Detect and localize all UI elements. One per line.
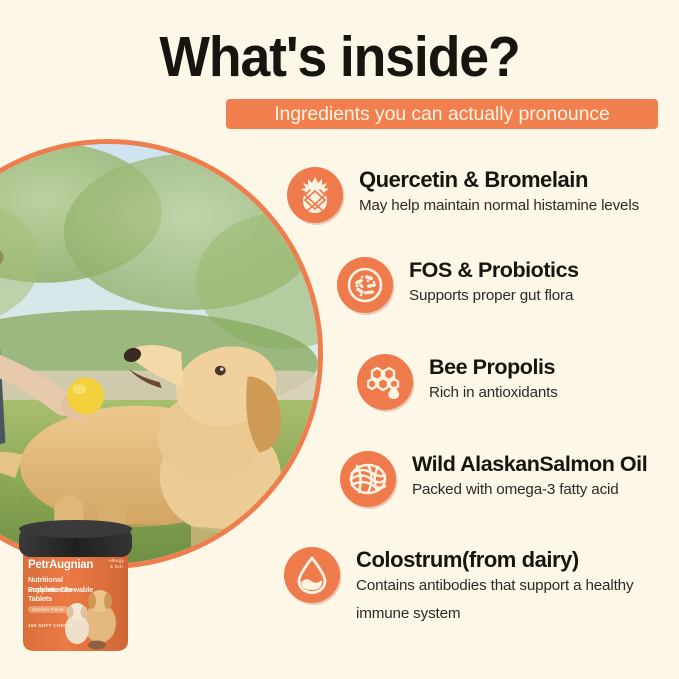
ingredient-row: Bee Propolis Rich in antioxidants bbox=[357, 354, 558, 410]
ingredient-title: Quercetin & Bromelain bbox=[359, 168, 639, 192]
ingredient-title: Wild AlaskanSalmon Oil bbox=[412, 452, 647, 476]
subtitle-banner: Ingredients you can actually pronounce bbox=[226, 99, 658, 129]
ingredient-desc-line-2: immune system bbox=[356, 603, 633, 624]
ingredient-desc-line-1: Contains antibodies that support a healt… bbox=[356, 577, 633, 594]
pineapple-icon bbox=[287, 167, 343, 223]
ingredient-row: FOS & Probiotics Supports proper gut flo… bbox=[337, 257, 579, 313]
fish-scales-icon bbox=[340, 451, 396, 507]
infographic-page: What's inside? Ingredients you can actua… bbox=[0, 0, 679, 679]
honeycomb-icon bbox=[357, 354, 413, 410]
ingredient-row: Wild AlaskanSalmon Oil Packed with omega… bbox=[340, 451, 647, 507]
ingredient-title: FOS & Probiotics bbox=[409, 258, 579, 282]
page-title: What's inside? bbox=[20, 26, 658, 88]
ingredient-text: Bee Propolis Rich in antioxidants bbox=[429, 354, 558, 403]
ingredient-desc: Packed with omega-3 fatty acid bbox=[412, 479, 647, 500]
ingredient-text: Quercetin & Bromelain May help maintain … bbox=[359, 167, 639, 216]
ingredient-text: FOS & Probiotics Supports proper gut flo… bbox=[409, 257, 579, 306]
hero-photo bbox=[0, 144, 318, 564]
droplet-icon bbox=[284, 547, 340, 603]
ingredient-text: Wild AlaskanSalmon Oil Packed with omega… bbox=[412, 451, 647, 500]
ingredient-desc: Rich in antioxidants bbox=[429, 382, 558, 403]
ingredient-desc: Supports proper gut flora bbox=[409, 285, 579, 306]
petri-dish-probiotics-icon bbox=[337, 257, 393, 313]
jar-illustration bbox=[17, 519, 134, 662]
hero-photo-circle bbox=[0, 139, 323, 569]
ingredient-desc: Contains antibodies that support a healt… bbox=[356, 575, 633, 624]
hero-photo-illustration bbox=[0, 144, 318, 564]
ingredient-row: Quercetin & Bromelain May help maintain … bbox=[287, 167, 639, 223]
ingredient-text: Colostrum(from dairy) Contains antibodie… bbox=[356, 547, 633, 624]
ingredient-title: Bee Propolis bbox=[429, 355, 558, 379]
ingredient-desc: May help maintain normal histamine level… bbox=[359, 195, 639, 216]
product-jar: PetrAugnian Nutritional Supplements Prob… bbox=[17, 519, 134, 662]
ingredient-title: Colostrum(from dairy) bbox=[356, 548, 633, 572]
ingredient-row: Colostrum(from dairy) Contains antibodie… bbox=[284, 547, 633, 624]
subtitle-text: Ingredients you can actually pronounce bbox=[274, 104, 610, 124]
